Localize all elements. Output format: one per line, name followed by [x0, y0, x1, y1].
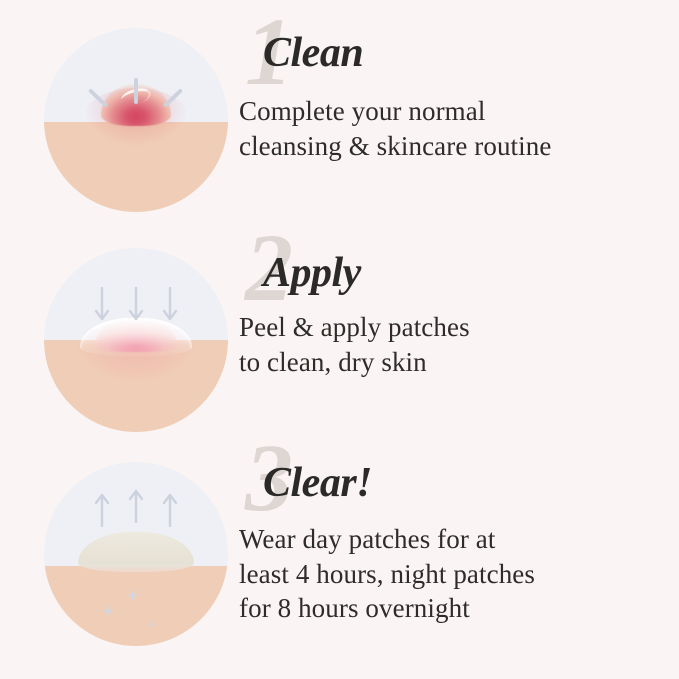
step-3-title-row: 3 Clear!	[239, 458, 679, 518]
step-2-title-row: 2 Apply	[239, 248, 679, 306]
sparkle-top-icon	[127, 590, 138, 601]
step-1-title-row: 1 Clean	[239, 28, 679, 90]
step-2-illustration	[0, 248, 227, 438]
step-2-heading: Apply	[263, 252, 361, 294]
instructions-page: 1 Clean Complete your normal cleansing &…	[0, 0, 679, 679]
patch-removed-illustration	[44, 462, 228, 646]
sparkles-group	[44, 462, 228, 646]
step-3-description: Wear day patches for at least 4 hours, n…	[239, 518, 679, 626]
step-3-illustration	[0, 458, 227, 648]
step-2-text: 2 Apply Peel & apply patches to clean, d…	[227, 248, 679, 379]
step-1-illustration	[0, 28, 227, 218]
ray-center-icon	[134, 78, 138, 104]
step-3: 3 Clear! Wear day patches for at least 4…	[0, 458, 679, 658]
arrow-down-left-icon	[92, 286, 112, 326]
step-3-text: 3 Clear! Wear day patches for at least 4…	[227, 458, 679, 626]
sparkle-right-icon	[148, 620, 157, 629]
step-2: 2 Apply Peel & apply patches to clean, d…	[0, 248, 679, 438]
step-1-text: 1 Clean Complete your normal cleansing &…	[227, 28, 679, 163]
step-1-heading: Clean	[263, 32, 363, 74]
step-1-description: Complete your normal cleansing & skincar…	[239, 90, 679, 163]
patch-applied-illustration	[44, 248, 228, 432]
sparkle-left-icon	[102, 604, 114, 618]
down-arrows-group	[44, 248, 228, 432]
ray-right-icon	[163, 88, 183, 108]
step-2-description: Peel & apply patches to clean, dry skin	[239, 306, 679, 379]
step-3-heading: Clear!	[263, 462, 372, 504]
ray-left-icon	[88, 88, 108, 108]
inflamed-blemish-illustration	[44, 28, 228, 212]
step-1: 1 Clean Complete your normal cleansing &…	[0, 28, 679, 218]
arrow-down-right-icon	[160, 286, 180, 326]
radiating-lines-icon	[44, 28, 228, 212]
arrow-down-center-icon	[126, 286, 146, 326]
